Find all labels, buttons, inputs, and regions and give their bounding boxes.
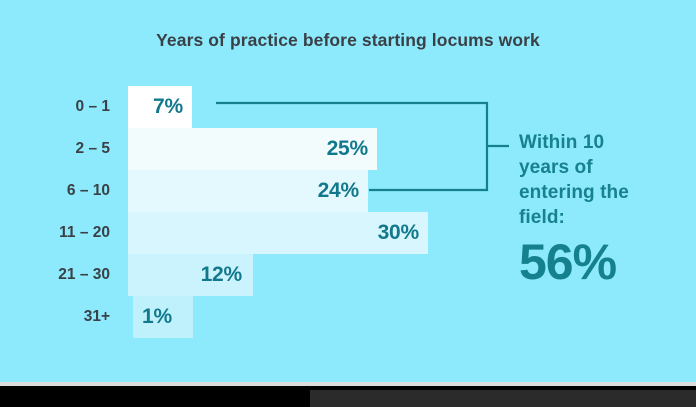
callout-line-1: Within 10 bbox=[519, 130, 687, 155]
category-label-6-10: 6 – 10 bbox=[0, 170, 110, 212]
category-label-0-1: 0 – 1 bbox=[0, 86, 110, 128]
page-title: Years of practice before starting locums… bbox=[0, 30, 696, 51]
category-label-31-plus: 31+ bbox=[0, 296, 110, 338]
bar-value-6-10: 24% bbox=[318, 179, 359, 203]
bar-11-20: 30% bbox=[128, 212, 428, 254]
chart-row: 0 – 1 7% bbox=[0, 86, 696, 128]
bar-value-31-plus: 1% bbox=[142, 305, 172, 329]
callout-line-3: entering the bbox=[519, 180, 687, 205]
bar-2-5: 25% bbox=[128, 128, 377, 170]
category-label-2-5: 2 – 5 bbox=[0, 128, 110, 170]
bar-value-21-30: 12% bbox=[201, 263, 242, 287]
bottom-dark-gray-strip bbox=[310, 390, 696, 407]
bar-21-30: 12% bbox=[128, 254, 253, 296]
bar-6-10: 24% bbox=[128, 170, 368, 212]
category-label-11-20: 11 – 20 bbox=[0, 212, 110, 254]
chart-row: 31+ 1% bbox=[0, 296, 696, 338]
bar-value-11-20: 30% bbox=[378, 221, 419, 245]
callout-line-2: years of bbox=[519, 155, 687, 180]
callout-annotation: Within 10 years of entering the field: 5… bbox=[519, 130, 687, 288]
bar-value-2-5: 25% bbox=[327, 137, 368, 161]
bar-0-1: 7% bbox=[128, 86, 192, 128]
category-label-21-30: 21 – 30 bbox=[0, 254, 110, 296]
callout-line-4: field: bbox=[519, 205, 687, 230]
bar-value-0-1: 7% bbox=[153, 95, 183, 119]
bar-31-plus: 1% bbox=[133, 296, 193, 338]
callout-highlight-value: 56% bbox=[519, 236, 687, 288]
infographic-root: Years of practice before starting locums… bbox=[0, 0, 696, 407]
